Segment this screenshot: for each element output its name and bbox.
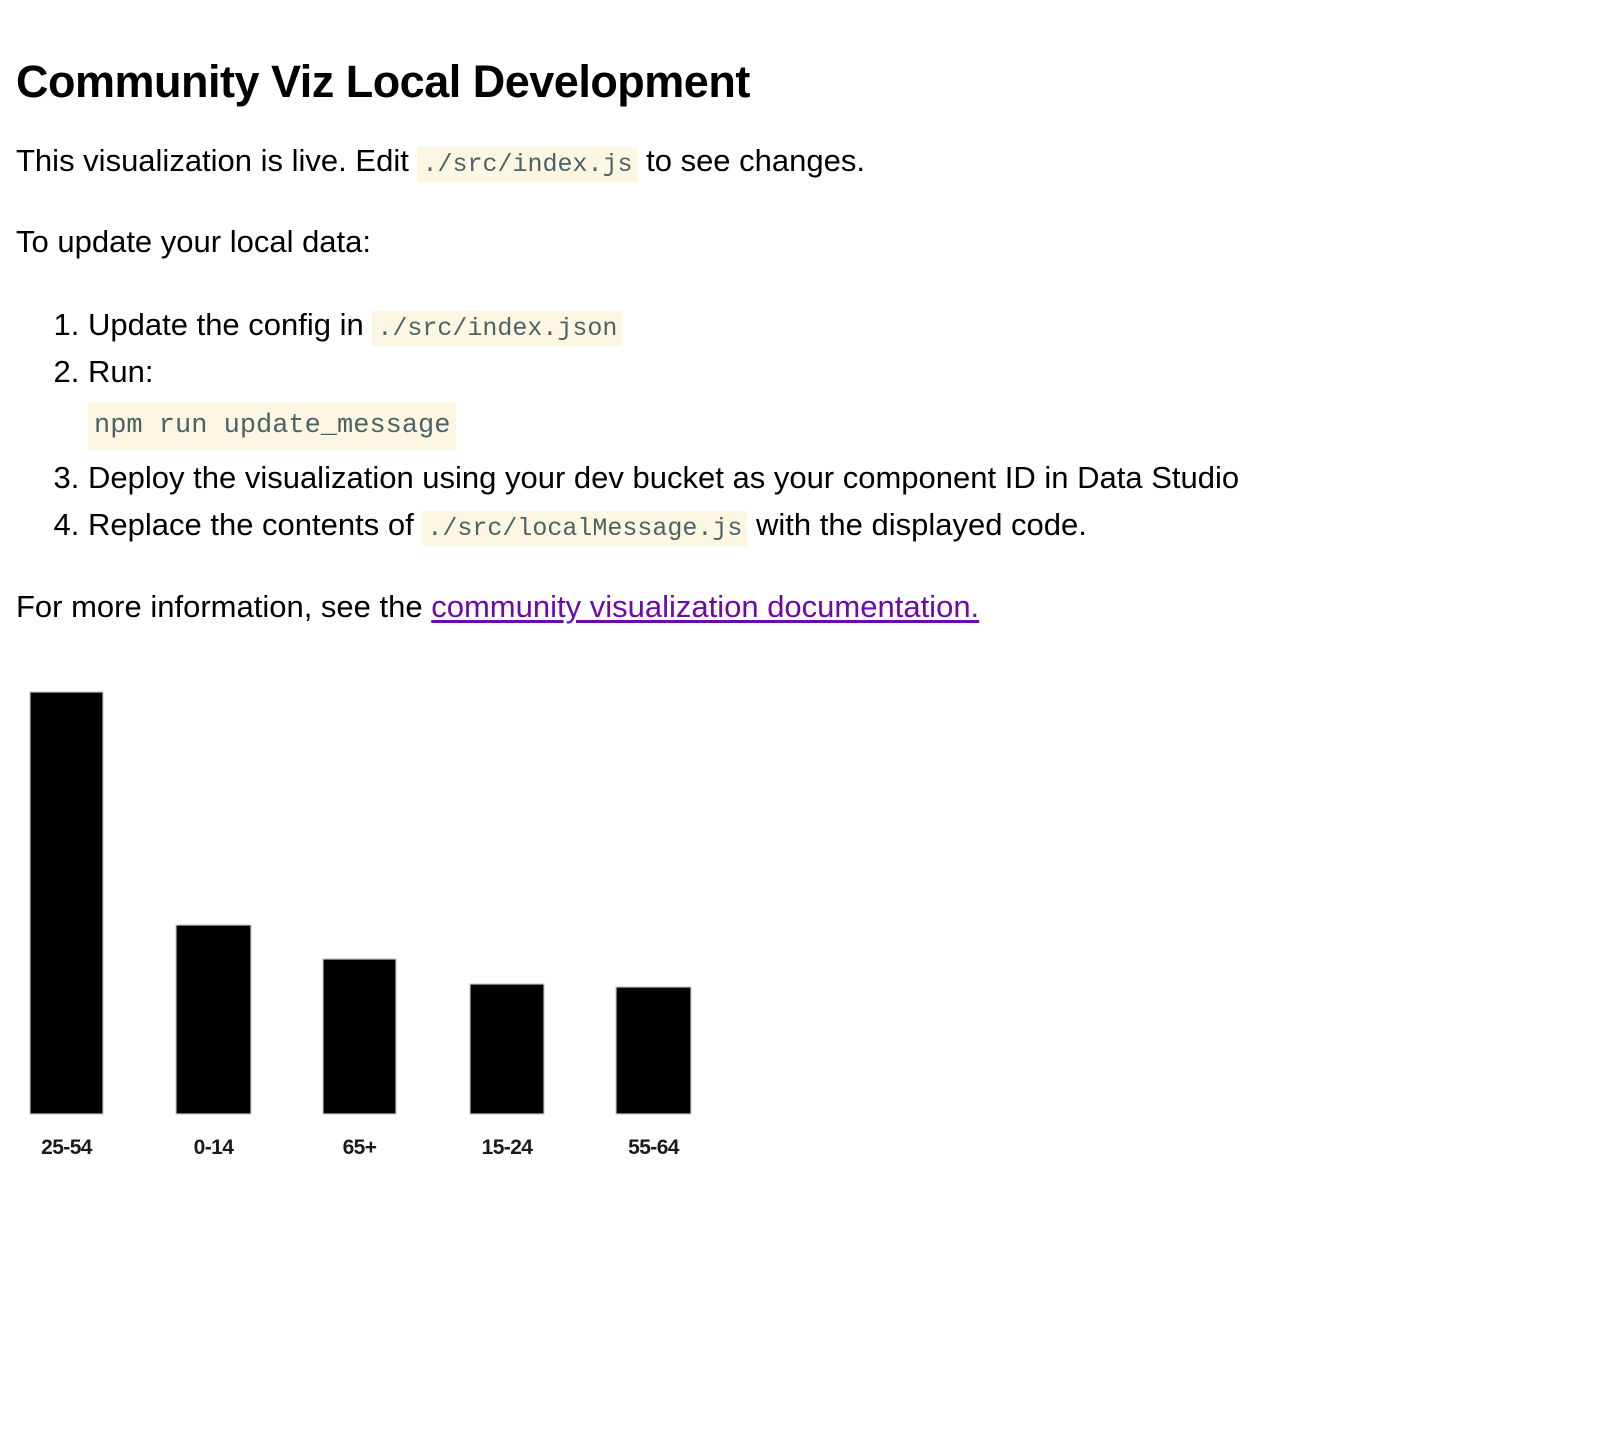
page-title: Community Viz Local Development — [16, 56, 1584, 108]
bar — [616, 987, 691, 1114]
intro-paragraph: This visualization is live. Edit ./src/i… — [16, 142, 1584, 181]
code-span-index-js: ./src/index.js — [417, 147, 637, 182]
code-span-local-message-js: ./src/localMessage.js — [422, 511, 747, 546]
step-1-text-before: Update the config in — [88, 307, 372, 342]
list-item: Run: npm run update_message — [88, 350, 1584, 450]
bar — [176, 925, 251, 1114]
bar-label: 65+ — [343, 1136, 377, 1159]
instructions-lead: To update your local data: — [16, 223, 1584, 262]
code-span-index-json: ./src/index.json — [372, 311, 622, 346]
step-4-text-before: Replace the contents of — [88, 507, 422, 542]
footer-text-before: For more information, see the — [16, 589, 431, 624]
community-visualization-documentation-link[interactable]: community visualization documentation. — [431, 589, 979, 624]
step-4-text-after: with the displayed code. — [747, 507, 1087, 542]
steps-list: Update the config in ./src/index.json Ru… — [16, 303, 1584, 548]
list-item: Replace the contents of ./src/localMessa… — [88, 503, 1584, 548]
bar-label: 0-14 — [194, 1136, 235, 1159]
step-3-text: Deploy the visualization using your dev … — [88, 460, 1239, 495]
bar-chart: 25-540-1465+15-2455-64 — [16, 679, 796, 1179]
bar-label: 25-54 — [41, 1136, 93, 1159]
list-item: Deploy the visualization using your dev … — [88, 456, 1584, 501]
footer-paragraph: For more information, see the community … — [16, 588, 1584, 627]
list-item: Update the config in ./src/index.json — [88, 303, 1584, 348]
intro-text-before: This visualization is live. Edit — [16, 143, 417, 178]
bar — [30, 692, 103, 1114]
document-body: Community Viz Local Development This vis… — [0, 0, 1600, 1179]
bar — [323, 959, 396, 1114]
step-2-text-before: Run: — [88, 354, 153, 389]
bar-chart-container: 25-540-1465+15-2455-64 — [16, 679, 1584, 1179]
bar-label: 55-64 — [628, 1136, 680, 1159]
intro-text-after: to see changes. — [637, 143, 865, 178]
bar-label: 15-24 — [482, 1136, 534, 1159]
bar — [470, 984, 544, 1114]
code-block-npm-command: npm run update_message — [88, 403, 456, 450]
